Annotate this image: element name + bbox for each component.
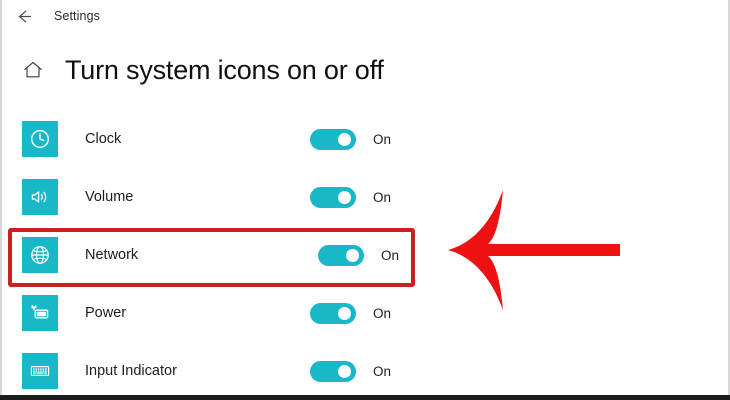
clock-icon — [22, 121, 58, 157]
toggle-switch[interactable] — [310, 361, 356, 382]
frame-edge-left — [0, 0, 2, 400]
back-button[interactable] — [4, 1, 44, 31]
list-item-label: Power — [85, 305, 126, 321]
toggle-group: On — [310, 303, 391, 324]
list-item-label: Volume — [85, 189, 133, 205]
list-item[interactable]: Volume On — [0, 168, 730, 226]
toggle-state-label: On — [373, 364, 391, 379]
list-item[interactable]: Network On — [0, 226, 730, 284]
app-title: Settings — [54, 9, 100, 23]
toggle-group: On — [310, 129, 391, 150]
list-item-label: Clock — [85, 131, 121, 147]
toggle-knob — [346, 249, 359, 262]
toggle-knob — [338, 365, 351, 378]
page-title: Turn system icons on or off — [65, 55, 384, 86]
toggle-knob — [338, 191, 351, 204]
toggle-knob — [338, 307, 351, 320]
list-item-label: Network — [85, 247, 138, 263]
list-item[interactable]: Power On — [0, 284, 730, 342]
list-item[interactable]: Input Indicator On — [0, 342, 730, 400]
network-globe-icon — [22, 237, 58, 273]
system-icons-list: Clock On Volume On — [0, 110, 730, 400]
toggle-switch[interactable] — [318, 245, 364, 266]
home-icon[interactable] — [18, 55, 48, 85]
toggle-group: On — [310, 187, 391, 208]
title-bar: Settings — [0, 0, 730, 32]
toggle-switch[interactable] — [310, 129, 356, 150]
back-arrow-icon — [15, 7, 34, 26]
toggle-group: On — [310, 361, 391, 382]
toggle-state-label: On — [373, 306, 391, 321]
toggle-switch[interactable] — [310, 187, 356, 208]
list-item-label: Input Indicator — [85, 363, 177, 379]
power-battery-icon — [22, 295, 58, 331]
toggle-state-label: On — [381, 248, 399, 263]
toggle-knob — [338, 133, 351, 146]
settings-page: Settings Turn system icons on or off Clo… — [0, 0, 730, 400]
toggle-switch[interactable] — [310, 303, 356, 324]
volume-icon — [22, 179, 58, 215]
toggle-state-label: On — [373, 190, 391, 205]
keyboard-input-icon — [22, 353, 58, 389]
frame-edge-bottom — [0, 395, 730, 400]
toggle-state-label: On — [373, 132, 391, 147]
page-heading: Turn system icons on or off — [0, 48, 730, 92]
list-item[interactable]: Clock On — [0, 110, 730, 168]
toggle-group: On — [318, 245, 399, 266]
